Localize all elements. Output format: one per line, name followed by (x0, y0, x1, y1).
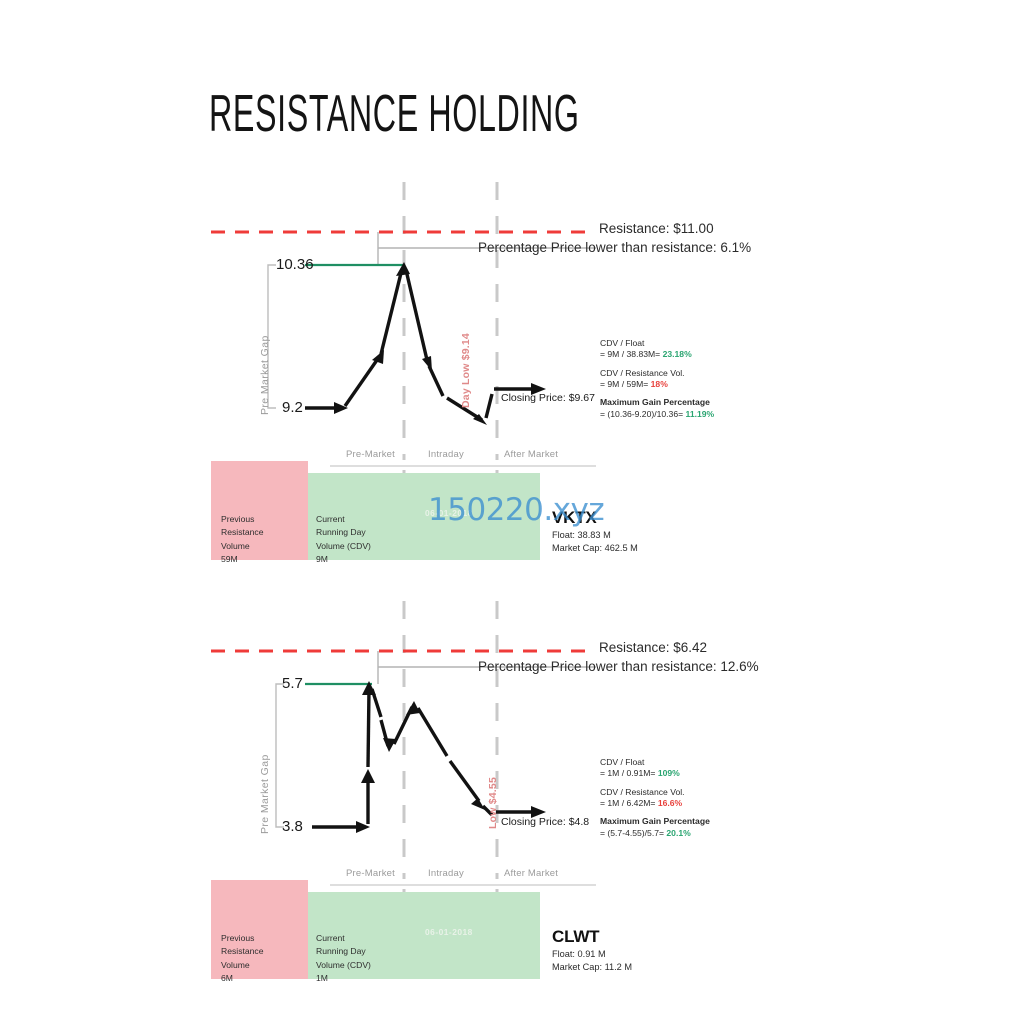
stat-cdv-float-expr: = 1M / 0.91M= (600, 768, 658, 778)
high-value: 10.36 (276, 256, 314, 273)
ticker-symbol: VKTX (552, 508, 638, 528)
percentage-label: Percentage Price lower than resistance: … (478, 240, 751, 255)
stat-cdv-float: CDV / Float = 9M / 38.83M= 23.18% (600, 338, 714, 361)
previous-volume-label: PreviousResistanceVolume59M (221, 513, 264, 566)
stat-cdv-res-expr: = 1M / 6.42M= (600, 798, 658, 808)
segment-intraday: Intraday (428, 449, 464, 460)
day-low-label: Low $4.55 (487, 777, 499, 829)
stat-cdv-resistance: CDV / Resistance Vol. = 9M / 59M= 18% (600, 368, 714, 391)
pre-market-gap-label: Pre Market Gap (259, 754, 271, 834)
previous-volume-label: PreviousResistanceVolume6M (221, 932, 264, 985)
panel-clwt: Resistance: $6.42 Percentage Price lower… (0, 589, 1024, 1019)
segment-pre-market: Pre-Market (346, 868, 395, 879)
segment-after-market: After Market (504, 449, 558, 460)
stat-cdv-res-value: 18% (651, 379, 668, 389)
stat-gain-expr: = (10.36-9.20)/10.36= (600, 409, 686, 419)
current-volume-value: 9M (316, 554, 328, 564)
stat-gain-title: Maximum Gain Percentage (600, 816, 710, 827)
previous-volume-text: PreviousResistanceVolume (221, 514, 264, 551)
low-value: 9.2 (282, 399, 303, 416)
ticker-float: Float: 0.91 M (552, 948, 632, 961)
ticker-market-cap: Market Cap: 11.2 M (552, 961, 632, 974)
stat-cdv-float-title: CDV / Float (600, 338, 714, 349)
stat-gain-expr: = (5.7-4.55)/5.7= (600, 828, 666, 838)
previous-volume-value: 59M (221, 554, 238, 564)
pre-market-gap-label: Pre Market Gap (259, 335, 271, 415)
stat-gain-value: 20.1% (666, 828, 690, 838)
panel-date-clwt: 06-01-2018 (425, 927, 473, 937)
segment-intraday: Intraday (428, 868, 464, 879)
current-volume-text: CurrentRunning DayVolume (CDV) (316, 514, 371, 551)
page-title: RESISTANCE HOLDING (209, 88, 580, 140)
stat-cdv-float: CDV / Float = 1M / 0.91M= 109% (600, 757, 710, 780)
ticker-market-cap: Market Cap: 462.5 M (552, 542, 638, 555)
closing-price-label: Closing Price: $4.8 (501, 816, 589, 828)
panel-vktx: Resistance: $11.00 Percentage Price lowe… (0, 170, 1024, 600)
stat-cdv-float-value: 23.18% (663, 349, 692, 359)
stat-max-gain: Maximum Gain Percentage = (10.36-9.20)/1… (600, 397, 714, 420)
stats-block-clwt: CDV / Float = 1M / 0.91M= 109% CDV / Res… (600, 757, 710, 846)
current-volume-label: CurrentRunning DayVolume (CDV)1M (316, 932, 371, 985)
poster-root: RESISTANCE HOLDING (0, 0, 1024, 1024)
stat-cdv-float-expr: = 9M / 38.83M= (600, 349, 663, 359)
percentage-label: Percentage Price lower than resistance: … (478, 659, 759, 674)
stat-gain-title: Maximum Gain Percentage (600, 397, 714, 408)
panel-date-vktx: 06-01-2018 (425, 508, 473, 518)
ticker-symbol: CLWT (552, 927, 632, 947)
stat-cdv-res-title: CDV / Resistance Vol. (600, 787, 710, 798)
closing-price-label: Closing Price: $9.67 (501, 392, 595, 404)
price-path-arrowheads-clwt (356, 681, 546, 833)
ticker-float: Float: 38.83 M (552, 529, 638, 542)
previous-volume-text: PreviousResistanceVolume (221, 933, 264, 970)
previous-volume-value: 6M (221, 973, 233, 983)
stat-cdv-float-value: 109% (658, 768, 680, 778)
stat-cdv-res-value: 16.6% (658, 798, 682, 808)
ticker-block-vktx: VKTX Float: 38.83 M Market Cap: 462.5 M (552, 508, 638, 556)
price-path-clwt (312, 689, 539, 827)
stat-cdv-resistance: CDV / Resistance Vol. = 1M / 6.42M= 16.6… (600, 787, 710, 810)
stat-cdv-res-expr: = 9M / 59M= (600, 379, 651, 389)
high-value: 5.7 (282, 675, 303, 692)
stat-gain-value: 11.19% (686, 409, 715, 419)
ticker-block-clwt: CLWT Float: 0.91 M Market Cap: 11.2 M (552, 927, 632, 975)
current-volume-value: 1M (316, 973, 328, 983)
day-low-label: Day Low $9.14 (460, 333, 472, 408)
current-volume-label: CurrentRunning DayVolume (CDV)9M (316, 513, 371, 566)
stat-cdv-res-title: CDV / Resistance Vol. (600, 368, 714, 379)
pre-market-gap-bracket (276, 684, 284, 827)
stats-block-vktx: CDV / Float = 9M / 38.83M= 23.18% CDV / … (600, 338, 714, 427)
current-volume-text: CurrentRunning DayVolume (CDV) (316, 933, 371, 970)
low-value: 3.8 (282, 818, 303, 835)
resistance-label: Resistance: $6.42 (599, 640, 707, 655)
segment-after-market: After Market (504, 868, 558, 879)
stat-cdv-float-title: CDV / Float (600, 757, 710, 768)
stat-max-gain: Maximum Gain Percentage = (5.7-4.55)/5.7… (600, 816, 710, 839)
resistance-label: Resistance: $11.00 (599, 221, 714, 236)
segment-pre-market: Pre-Market (346, 449, 395, 460)
